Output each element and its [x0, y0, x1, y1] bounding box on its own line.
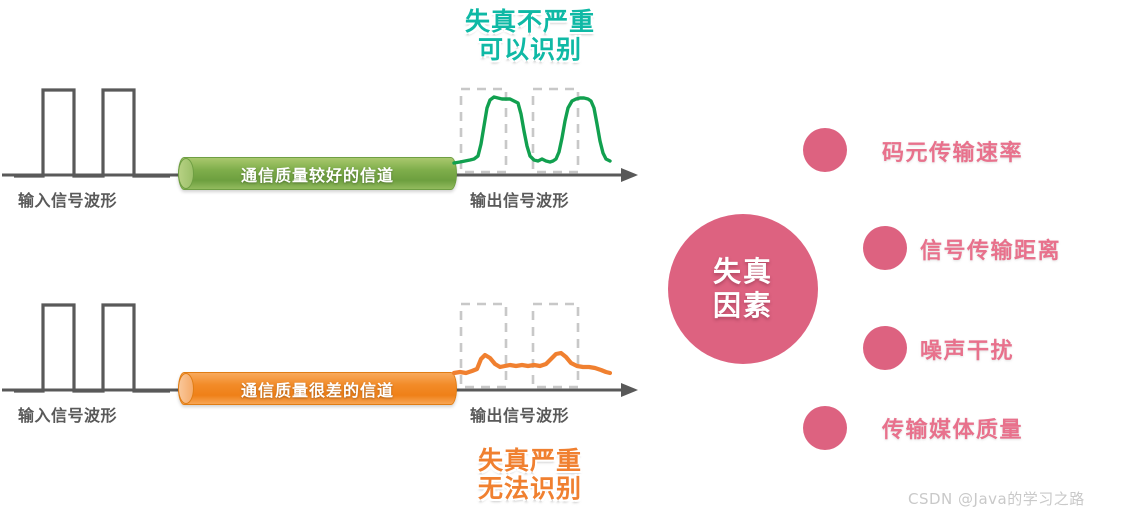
distortion-factors-circle[interactable]: 失真 因素 [668, 214, 818, 364]
distortion-circle-line2: 因素 [713, 289, 773, 323]
bullet-dot-icon-1 [803, 128, 847, 172]
input-label-top: 输入信号波形 [18, 187, 117, 211]
input-label-bottom: 输入信号波形 [18, 402, 117, 426]
channel-cylinder-bad[interactable]: 通信质量很差的信道 [178, 372, 457, 405]
channel-label-bad: 通信质量很差的信道 [241, 377, 394, 401]
output-label-bottom: 输出信号波形 [470, 402, 569, 426]
bullet-dot-icon-2 [863, 226, 907, 270]
factor-item-1[interactable]: 码元传输速率 [882, 135, 1023, 167]
watermark: CSDN @Java的学习之路 [908, 488, 1085, 509]
output-waveform-bad [452, 301, 612, 389]
callout-bad-line2: 无法识别 [450, 475, 610, 503]
bullet-dot-icon-4 [803, 406, 847, 450]
cylinder-cap-left-orange [178, 373, 194, 404]
channel-cylinder-good[interactable]: 通信质量较好的信道 [178, 157, 457, 190]
factor-item-3[interactable]: 噪声干扰 [920, 333, 1014, 365]
factor-item-4[interactable]: 传输媒体质量 [882, 412, 1023, 444]
diagram-canvas: 失真不严重 可以识别 输入信号波形 输出信号波形 通信质量较好的信道 输入信号波… [0, 0, 1133, 517]
output-waveform-good [452, 86, 612, 174]
output-label-top: 输出信号波形 [470, 187, 569, 211]
bullet-dot-icon-3 [863, 326, 907, 370]
callout-good-line1: 失真不严重 [450, 8, 610, 36]
channel-label-good: 通信质量较好的信道 [241, 162, 394, 186]
callout-good-quality: 失真不严重 可以识别 [450, 8, 610, 64]
callout-bad-line1: 失真严重 [450, 447, 610, 475]
callout-bad-quality: 失真严重 无法识别 [450, 447, 610, 503]
callout-good-line2: 可以识别 [450, 36, 610, 64]
cylinder-cap-left-green [178, 158, 194, 189]
distortion-circle-line1: 失真 [713, 255, 773, 289]
factor-item-2[interactable]: 信号传输距离 [920, 233, 1061, 265]
